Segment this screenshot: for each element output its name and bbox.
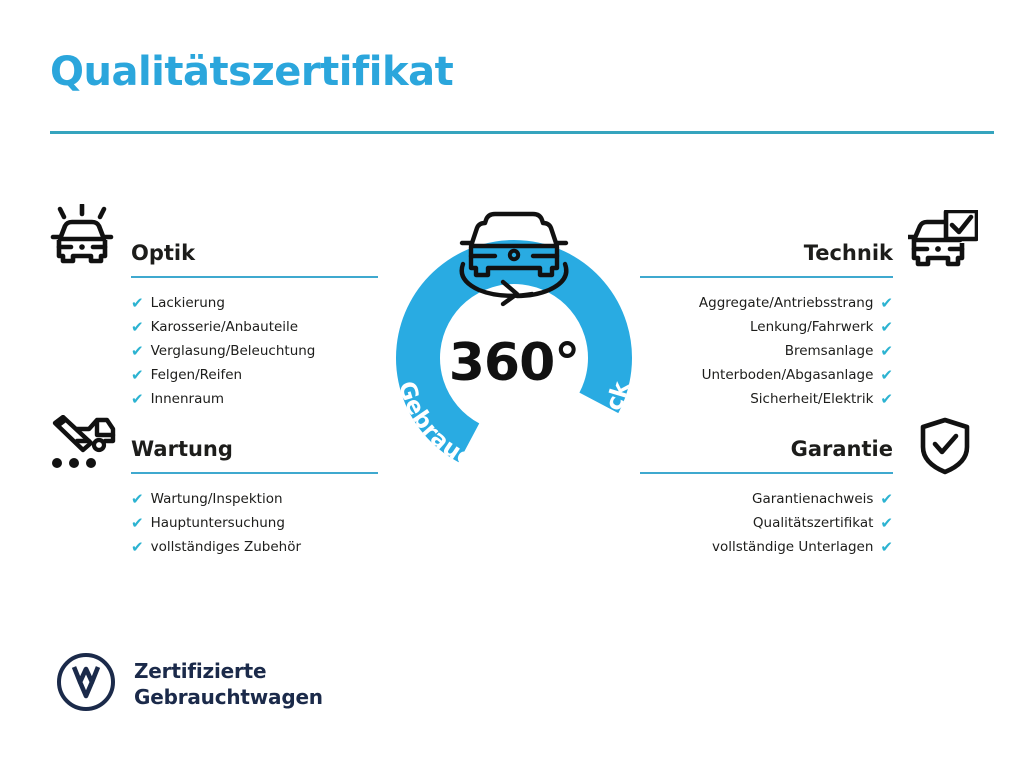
section-garantie: Garantie Garantienachweis✔ Qualitätszert… — [640, 434, 893, 559]
section-technik-divider — [640, 276, 893, 278]
list-item-label: Karosserie/Anbauteile — [151, 315, 299, 339]
list-item: ✔Lackierung — [131, 291, 378, 315]
list-item-label: Unterboden/Abgasanlage — [702, 363, 874, 387]
list-item: ✔Innenraum — [131, 387, 378, 411]
car-front-shine-icon — [47, 204, 117, 270]
section-technik-head: Technik — [640, 238, 893, 278]
list-item-label: Qualitätszertifikat — [753, 511, 874, 535]
section-wartung-list: ✔Wartung/Inspektion ✔Hauptuntersuchung ✔… — [131, 487, 378, 559]
section-garantie-title: Garantie — [640, 434, 893, 464]
badge-center-number: 360° — [374, 333, 654, 393]
section-wartung-head: Wartung — [131, 434, 378, 474]
page-title: Qualitätszertifikat — [50, 50, 453, 94]
vw-wordmark: Zertifizierte Gebrauchtwagen — [134, 658, 323, 710]
badge-360-gebrauchtwagen-check: Gebrauchtwagen-Check 360° — [374, 196, 654, 496]
section-optik-title: Optik — [131, 238, 378, 268]
check-icon: ✔ — [131, 296, 144, 311]
list-item-label: Innenraum — [151, 387, 225, 411]
shield-check-icon — [919, 417, 971, 479]
list-item: Garantienachweis✔ — [640, 487, 893, 511]
list-item-label: vollständiges Zubehör — [151, 535, 301, 559]
list-item: ✔Felgen/Reifen — [131, 363, 378, 387]
vw-wordmark-line2: Gebrauchtwagen — [134, 684, 323, 710]
check-icon: ✔ — [131, 392, 144, 407]
section-wartung-divider — [131, 472, 378, 474]
check-icon: ✔ — [131, 492, 144, 507]
list-item-label: Wartung/Inspektion — [151, 487, 283, 511]
list-item: Bremsanlage✔ — [640, 339, 893, 363]
header-divider — [50, 131, 994, 134]
check-icon: ✔ — [131, 540, 144, 555]
section-garantie-head: Garantie — [640, 434, 893, 474]
list-item: ✔vollständiges Zubehör — [131, 535, 378, 559]
check-icon: ✔ — [131, 516, 144, 531]
list-item-label: Felgen/Reifen — [151, 363, 243, 387]
check-icon: ✔ — [131, 368, 144, 383]
list-item-label: Bremsanlage — [785, 339, 874, 363]
section-garantie-list: Garantienachweis✔ Qualitätszertifikat✔ v… — [640, 487, 893, 559]
check-icon: ✔ — [880, 368, 893, 383]
list-item: ✔Hauptuntersuchung — [131, 511, 378, 535]
car-front-checkbox-icon — [908, 210, 978, 272]
section-wartung: Wartung ✔Wartung/Inspektion ✔Hauptunters… — [131, 434, 378, 559]
list-item: ✔Karosserie/Anbauteile — [131, 315, 378, 339]
check-icon: ✔ — [131, 344, 144, 359]
section-garantie-divider — [640, 472, 893, 474]
list-item-label: Verglasung/Beleuchtung — [151, 339, 316, 363]
list-item: Unterboden/Abgasanlage✔ — [640, 363, 893, 387]
list-item: Aggregate/Antriebsstrang✔ — [640, 291, 893, 315]
section-technik-list: Aggregate/Antriebsstrang✔ Lenkung/Fahrwe… — [640, 291, 893, 411]
section-wartung-title: Wartung — [131, 434, 378, 464]
wrench-car-icon — [47, 415, 119, 475]
vw-wordmark-line1: Zertifizierte — [134, 658, 323, 684]
list-item: vollständige Unterlagen✔ — [640, 535, 893, 559]
list-item-label: Aggregate/Antriebsstrang — [699, 291, 874, 315]
check-icon: ✔ — [880, 516, 893, 531]
list-item: Qualitätszertifikat✔ — [640, 511, 893, 535]
check-icon: ✔ — [131, 320, 144, 335]
section-optik-list: ✔Lackierung ✔Karosserie/Anbauteile ✔Verg… — [131, 291, 378, 411]
list-item-label: Sicherheit/Elektrik — [750, 387, 873, 411]
section-optik-divider — [131, 276, 378, 278]
vw-certified-lockup: Zertifizierte Gebrauchtwagen — [56, 652, 323, 716]
check-icon: ✔ — [880, 492, 893, 507]
check-icon: ✔ — [880, 296, 893, 311]
check-icon: ✔ — [880, 392, 893, 407]
list-item: Lenkung/Fahrwerk✔ — [640, 315, 893, 339]
list-item: ✔Verglasung/Beleuchtung — [131, 339, 378, 363]
section-technik: Technik Aggregate/Antriebsstrang✔ Lenkun… — [640, 238, 893, 411]
list-item-label: Garantienachweis — [752, 487, 873, 511]
list-item: Sicherheit/Elektrik✔ — [640, 387, 893, 411]
list-item-label: Lackierung — [151, 291, 225, 315]
check-icon: ✔ — [880, 344, 893, 359]
section-optik-head: Optik — [131, 238, 378, 278]
check-icon: ✔ — [880, 540, 893, 555]
list-item-label: Hauptuntersuchung — [151, 511, 285, 535]
list-item-label: vollständige Unterlagen — [712, 535, 873, 559]
check-icon: ✔ — [880, 320, 893, 335]
list-item: ✔Wartung/Inspektion — [131, 487, 378, 511]
list-item-label: Lenkung/Fahrwerk — [750, 315, 873, 339]
section-technik-title: Technik — [640, 238, 893, 268]
section-optik: Optik ✔Lackierung ✔Karosserie/Anbauteile… — [131, 238, 378, 411]
vw-logo — [56, 652, 116, 716]
